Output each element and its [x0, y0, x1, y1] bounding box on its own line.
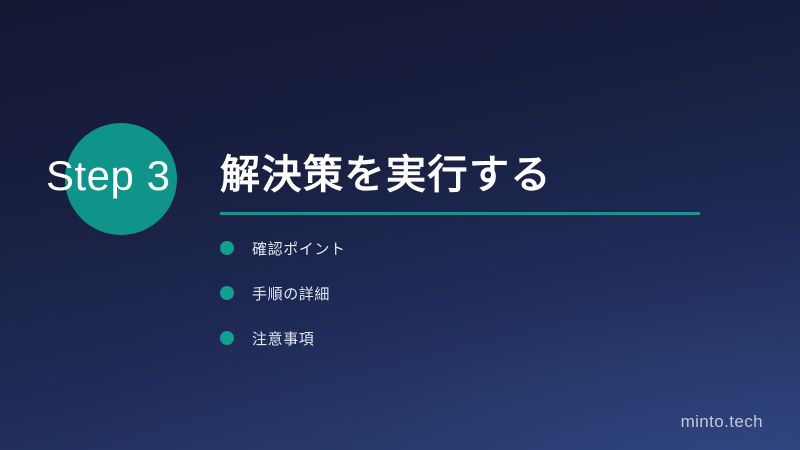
watermark-label: minto.tech: [681, 412, 763, 432]
list-item-label: 注意事項: [252, 328, 314, 349]
list-item-label: 手順の詳細: [252, 283, 330, 304]
list-item: 確認ポイント: [220, 236, 640, 260]
bullet-dot-icon: [220, 241, 234, 255]
bullet-dot-icon: [220, 286, 234, 300]
list-item: 注意事項: [220, 326, 640, 350]
bullet-dot-icon: [220, 331, 234, 345]
bullet-list: 確認ポイント 手順の詳細 注意事項: [220, 236, 640, 371]
list-item: 手順の詳細: [220, 281, 640, 305]
presentation-slide: Step 3 解決策を実行する 確認ポイント 手順の詳細 注意事項 minto.…: [0, 0, 800, 450]
heading-divider: [220, 212, 700, 215]
list-item-label: 確認ポイント: [252, 238, 346, 259]
step-label: Step 3: [46, 150, 216, 202]
slide-heading: 解決策を実行する: [220, 142, 552, 200]
